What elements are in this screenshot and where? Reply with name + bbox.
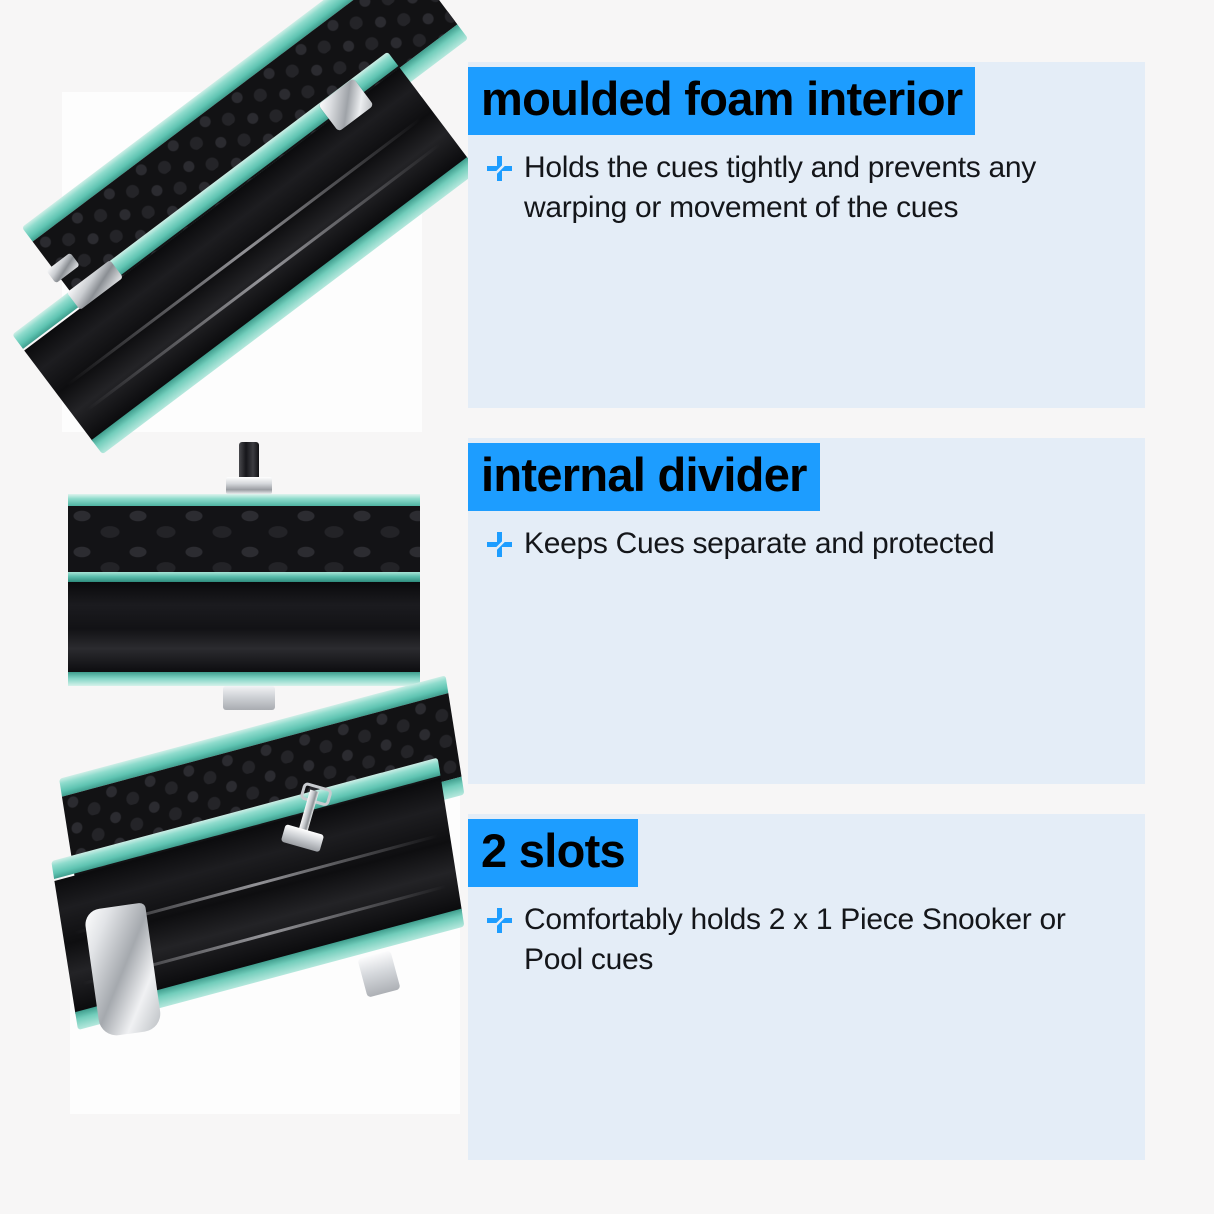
internal-divider-rail — [68, 572, 420, 582]
heading-wrap: internal divider — [468, 443, 1145, 511]
feature-bullet: Keeps Cues separate and protected — [487, 524, 1127, 564]
photo-canvas — [70, 784, 460, 1114]
feature-heading: 2 slots — [468, 819, 638, 887]
lock-plate — [226, 477, 272, 494]
heading-wrap: moulded foam interior — [468, 67, 1145, 135]
bottom-teal-edge — [68, 672, 420, 686]
feature-row: moulded foam interior Holds the cues tig… — [0, 62, 1214, 408]
feature-row: internal divider Keeps Cues separate and… — [0, 438, 1214, 784]
feature-row: 2 slots Comfortably holds 2 x 1 Piece Sn… — [0, 814, 1214, 1160]
plus-sparkle-icon — [487, 908, 512, 933]
chrome-hinge — [223, 686, 275, 710]
feature-bullet: Comfortably holds 2 x 1 Piece Snooker or… — [487, 900, 1127, 980]
photo-stage — [0, 774, 468, 1194]
photo-canvas — [68, 494, 420, 686]
feature-heading: moulded foam interior — [468, 67, 975, 135]
feature-bullet-text: Keeps Cues separate and protected — [524, 524, 1127, 564]
lower-cue-channel — [68, 582, 420, 672]
product-photo-moulded-foam-interior — [0, 22, 468, 442]
feature-text-panel: internal divider Keeps Cues separate and… — [468, 438, 1145, 784]
product-photo-two-slots — [0, 774, 468, 1194]
infographic-board: moulded foam interior Holds the cues tig… — [0, 0, 1214, 1214]
feature-heading: internal divider — [468, 443, 820, 511]
chrome-lock — [226, 442, 272, 494]
feature-text-panel: 2 slots Comfortably holds 2 x 1 Piece Sn… — [468, 814, 1145, 1160]
photo-canvas — [62, 92, 422, 432]
chrome-clasp — [357, 950, 400, 997]
egg-crate-foam — [68, 506, 420, 572]
feature-bullet-text: Holds the cues tightly and prevents any … — [524, 148, 1127, 228]
top-teal-edge — [68, 494, 420, 506]
feature-bullet: Holds the cues tightly and prevents any … — [487, 148, 1127, 228]
photo-stage — [0, 22, 468, 442]
plus-sparkle-icon — [487, 156, 512, 181]
case-cross-section — [68, 494, 420, 686]
heading-wrap: 2 slots — [468, 819, 1145, 887]
lock-barrel — [239, 442, 259, 482]
feature-text-panel: moulded foam interior Holds the cues tig… — [468, 62, 1145, 408]
plus-sparkle-icon — [487, 532, 512, 557]
feature-bullet-text: Comfortably holds 2 x 1 Piece Snooker or… — [524, 900, 1127, 980]
